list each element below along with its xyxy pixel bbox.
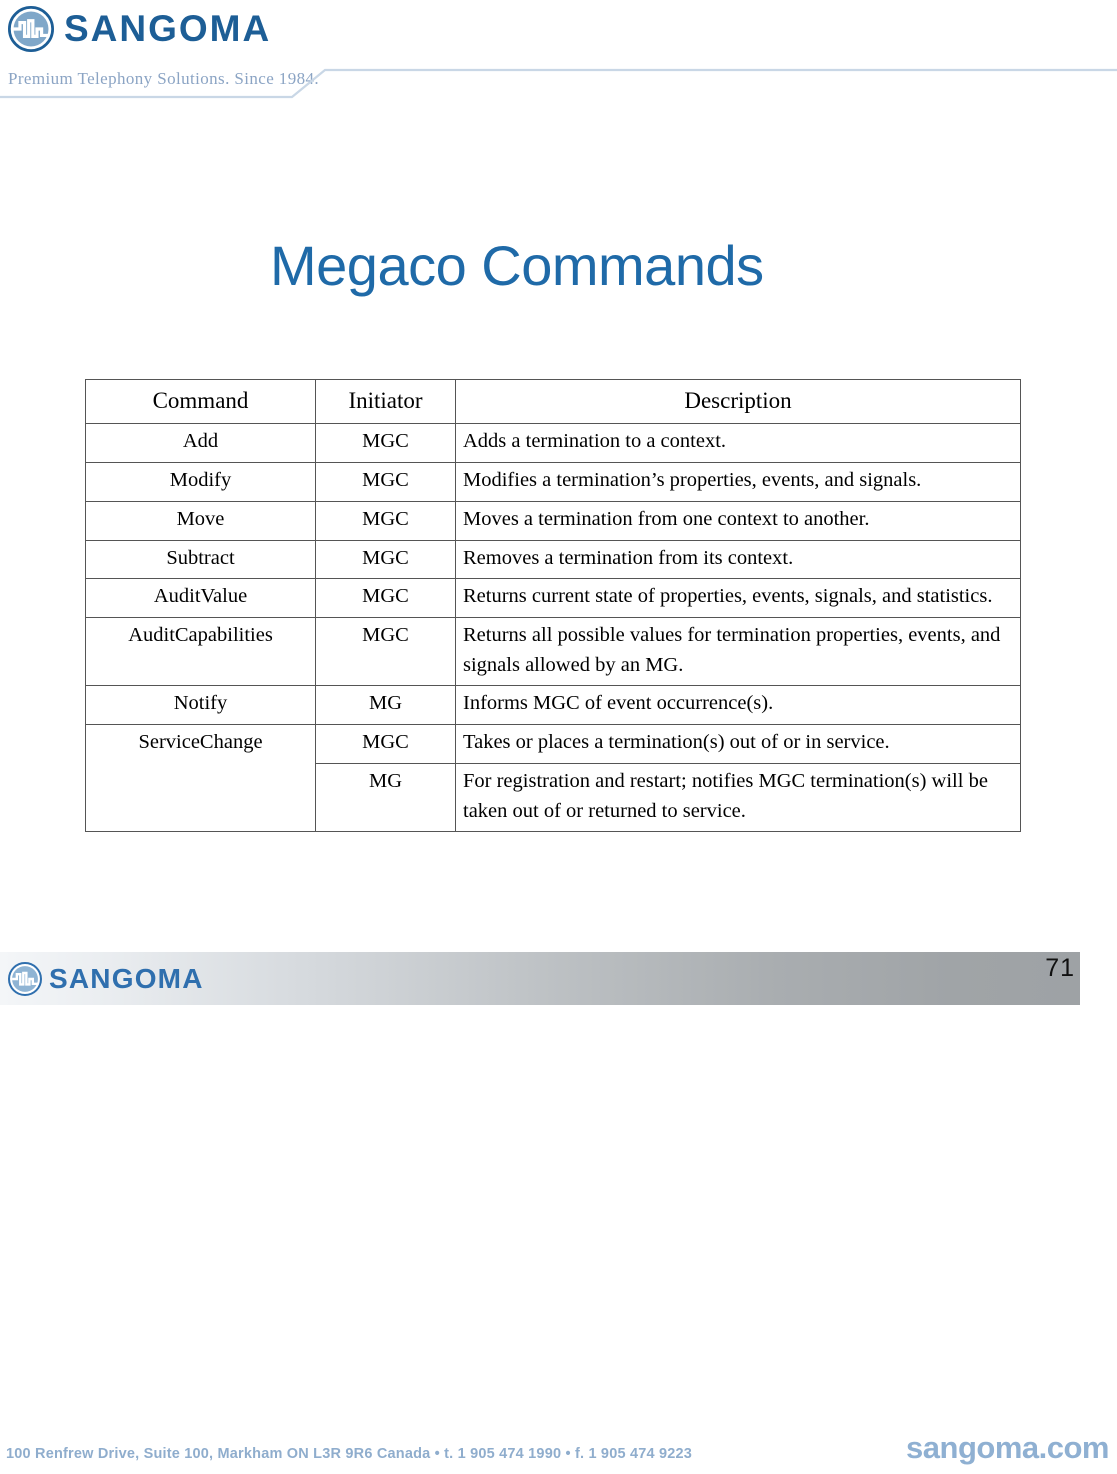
cell-initiator: MGC	[316, 617, 456, 685]
cell-command: Notify	[86, 686, 316, 725]
table-header-row: Command Initiator Description	[86, 380, 1021, 424]
cell-command: Subtract	[86, 540, 316, 579]
cell-description: Returns all possible values for terminat…	[456, 617, 1021, 685]
header-brand-name: SANGOMA	[64, 6, 271, 52]
cell-description: Removes a termination from its context.	[456, 540, 1021, 579]
cell-command: Add	[86, 424, 316, 463]
header-brand-logo: SANGOMA	[8, 6, 271, 52]
cell-initiator: MGC	[316, 424, 456, 463]
cell-description: Returns current state of properties, eve…	[456, 579, 1021, 618]
table-row: Notify MG Informs MGC of event occurrenc…	[86, 686, 1021, 725]
cell-description: Adds a termination to a context.	[456, 424, 1021, 463]
cell-initiator: MG	[316, 763, 456, 831]
cell-description: Moves a termination from one context to …	[456, 501, 1021, 540]
page-title: Megaco Commands	[270, 233, 764, 298]
table-row: AuditValue MGC Returns current state of …	[86, 579, 1021, 618]
sangoma-waveform-circle-icon	[8, 962, 42, 996]
table-row: Modify MGC Modifies a termination’s prop…	[86, 463, 1021, 502]
cell-command: Move	[86, 501, 316, 540]
header-divider-rule	[0, 66, 1117, 100]
footer-brand-name: SANGOMA	[49, 962, 204, 996]
table-row: ServiceChange MGC Takes or places a term…	[86, 725, 1021, 764]
table-row: AuditCapabilities MGC Returns all possib…	[86, 617, 1021, 685]
column-header-command: Command	[86, 380, 316, 424]
column-header-description: Description	[456, 380, 1021, 424]
cell-command: Modify	[86, 463, 316, 502]
cell-command: AuditCapabilities	[86, 617, 316, 685]
megaco-commands-table: Command Initiator Description Add MGC Ad…	[85, 379, 1020, 832]
cell-initiator: MG	[316, 686, 456, 725]
cell-description: Takes or places a termination(s) out of …	[456, 725, 1021, 764]
cell-initiator: MGC	[316, 725, 456, 764]
cell-command: ServiceChange	[86, 725, 316, 832]
table-row: Move MGC Moves a termination from one co…	[86, 501, 1021, 540]
column-header-initiator: Initiator	[316, 380, 456, 424]
bottom-footer: 100 Renfrew Drive, Suite 100, Markham ON…	[0, 1436, 1117, 1466]
page-header: SANGOMA Premium Telephony Solutions. Sin…	[0, 0, 1117, 100]
company-address: 100 Renfrew Drive, Suite 100, Markham ON…	[6, 1446, 692, 1462]
cell-description: Modifies a termination’s properties, eve…	[456, 463, 1021, 502]
footer-brand-logo: SANGOMA	[8, 962, 204, 996]
cell-initiator: MGC	[316, 463, 456, 502]
table-row: Add MGC Adds a termination to a context.	[86, 424, 1021, 463]
cell-command: AuditValue	[86, 579, 316, 618]
website-url[interactable]: sangoma.com	[906, 1430, 1109, 1466]
table-row: Subtract MGC Removes a termination from …	[86, 540, 1021, 579]
cell-description: Informs MGC of event occurrence(s).	[456, 686, 1021, 725]
cell-initiator: MGC	[316, 501, 456, 540]
cell-initiator: MGC	[316, 579, 456, 618]
cell-initiator: MGC	[316, 540, 456, 579]
cell-description: For registration and restart; notifies M…	[456, 763, 1021, 831]
sangoma-waveform-circle-icon	[8, 6, 54, 52]
page-number: 71	[1045, 954, 1075, 983]
